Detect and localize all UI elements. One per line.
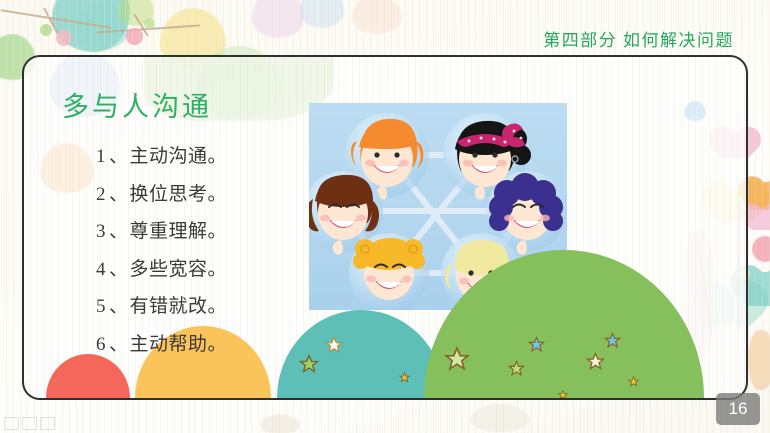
berry-green-2: [144, 18, 155, 29]
branch-stem-3: [43, 7, 59, 34]
watercolor-blob-peach: [352, 0, 402, 34]
list-item-label: 有错就改。: [130, 291, 228, 318]
slide-canvas: 第四部分 如何解决问题 多与人沟通 1 、 主动沟通。 2 、 换位思考。 3: [0, 0, 770, 433]
list-item-label: 主动帮助。: [130, 329, 228, 356]
list-item-separator: 、: [109, 254, 129, 281]
watercolor-stripe-orange: [748, 330, 770, 390]
watercolor-blob-blue: [300, 0, 344, 28]
watercolor-heart-orange: [752, 182, 770, 210]
list-item-separator: 、: [109, 291, 129, 318]
watercolor-leaf-teal-2: [76, 2, 128, 50]
list-item-label: 主动沟通。: [130, 141, 228, 168]
list-item-number: 4: [96, 259, 109, 281]
watercolor-blob-lilac: [252, 0, 304, 38]
list-item: 6 、 主动帮助。: [96, 329, 227, 356]
berry-pink-1: [56, 30, 72, 46]
sorter-view-icon[interactable]: [22, 417, 37, 430]
watercolor-blob-bottom-2: [470, 404, 530, 432]
list-item-number: 2: [96, 184, 109, 206]
list-item-separator: 、: [109, 329, 129, 356]
branch-stem-1: [1, 9, 112, 28]
list-item: 1 、 主动沟通。: [96, 141, 227, 168]
list-item: 5 、 有错就改。: [96, 291, 227, 318]
list-item-separator: 、: [109, 179, 129, 206]
watercolor-heart-pink-2: [752, 208, 770, 230]
reading-view-icon[interactable]: [40, 417, 55, 430]
list-item-number: 3: [96, 221, 109, 243]
list-item-number: 1: [96, 146, 109, 168]
list-item-number: 6: [96, 334, 109, 356]
list-item-label: 多些宽容。: [130, 254, 228, 281]
list-item-number: 5: [96, 296, 109, 318]
watercolor-flower-pink: [752, 236, 770, 262]
list-item: 2 、 换位思考。: [96, 179, 227, 206]
bullet-list: 1 、 主动沟通。 2 、 换位思考。 3 、 尊重理解。 4 、 多些宽容。 …: [96, 141, 227, 366]
content-card: 多与人沟通 1 、 主动沟通。 2 、 换位思考。 3 、 尊重理解。 4 、 …: [22, 55, 748, 400]
list-item-separator: 、: [109, 216, 129, 243]
list-item-label: 尊重理解。: [130, 216, 228, 243]
list-item: 3 、 尊重理解。: [96, 216, 227, 243]
list-item-separator: 、: [109, 141, 129, 168]
page-number-badge: 16: [716, 393, 760, 425]
page-title: 多与人沟通: [62, 85, 212, 124]
berry-green-1: [40, 24, 52, 36]
normal-view-icon[interactable]: [4, 417, 19, 430]
list-item: 4 、 多些宽容。: [96, 254, 227, 281]
watercolor-blob-bottom-1: [260, 414, 300, 433]
list-item-label: 换位思考。: [130, 179, 228, 206]
section-header-label: 第四部分 如何解决问题: [543, 26, 734, 51]
watercolor-leaf-lime: [118, 0, 154, 26]
view-mode-toolbar[interactable]: [4, 417, 55, 430]
branch-stem-2: [96, 24, 200, 33]
watercolor-leaf-teal: [52, 0, 130, 52]
branch-stem-4: [133, 13, 148, 36]
watercolor-heart-teal: [748, 272, 770, 306]
berry-pink-2: [126, 28, 143, 45]
